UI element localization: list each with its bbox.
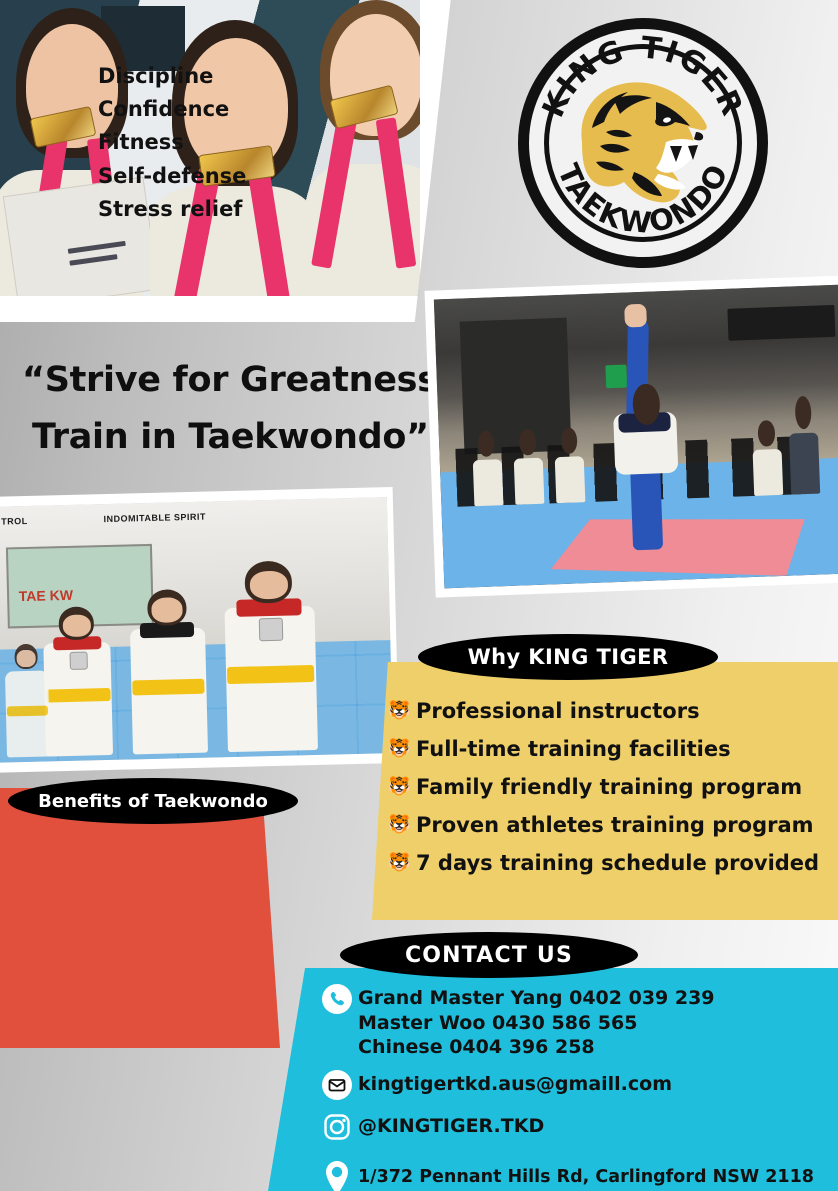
why-item-label: 7 days training schedule provided [416, 853, 819, 874]
benefits-heading-label: Benefits of Taekwondo [38, 791, 268, 812]
contact-address-row[interactable]: 1/372 Pennant Hills Rd, Carlingford NSW … [316, 1160, 836, 1191]
spectator [788, 395, 820, 494]
photo-high-kick-competition [425, 275, 838, 597]
contact-heading-pill: CONTACT US [340, 932, 638, 978]
photo-junior-class-training: TROL INDOMITABLE SPIRIT TAE KW [0, 487, 399, 773]
why-item-label: Proven athletes training program [416, 815, 814, 836]
spectator [513, 429, 545, 505]
tiger-face-icon: 🐯 [388, 702, 408, 720]
certificate-line [69, 254, 117, 266]
spectator [472, 430, 504, 506]
phone-icon [316, 984, 358, 1014]
certificate-line [68, 241, 126, 254]
spectator [752, 420, 784, 496]
wall-text-control: TROL [1, 516, 28, 527]
location-pin-icon [316, 1160, 358, 1191]
benefits-heading-pill: Benefits of Taekwondo [8, 778, 298, 824]
athlete-foot [624, 304, 646, 328]
instagram-icon [316, 1112, 358, 1142]
benefits-panel [0, 788, 280, 1048]
spectator [554, 427, 586, 503]
phone-numbers: Grand Master Yang 0402 039 239 Master Wo… [358, 984, 715, 1060]
instagram-handle: @KINGTIGER.TKD [358, 1112, 544, 1139]
tiger-face-icon: 🐯 [388, 740, 408, 758]
phone-line-1: Grand Master Yang 0402 039 239 [358, 986, 715, 1011]
student [129, 589, 208, 755]
envelope-icon [316, 1070, 358, 1100]
benefits-item: Fitness [98, 126, 246, 159]
tiger-head-icon [570, 76, 720, 208]
quote-line-1: “Strive for Greatness [22, 360, 438, 400]
phone-line-2: Master Woo 0430 586 565 [358, 1011, 715, 1036]
why-item: 🐯 7 days training schedule provided [388, 844, 819, 882]
photo-high-kick-image [434, 284, 838, 588]
poster-root: KING TIGER TAEKWONDO [0, 0, 838, 1191]
phone-line-3: Chinese 0404 396 258 [358, 1035, 715, 1060]
why-item: 🐯 Professional instructors [388, 692, 819, 730]
headline-quote: “Strive for Greatness Train in Taekwondo… [22, 352, 442, 465]
benefits-item: Stress relief [98, 193, 246, 226]
photo-junior-class-image: TROL INDOMITABLE SPIRIT TAE KW [0, 497, 393, 763]
benefits-list: Discipline Confidence Fitness Self-defen… [98, 60, 246, 226]
why-heading-label: Why KING TIGER [468, 645, 669, 669]
contact-instagram-row[interactable]: @KINGTIGER.TKD [316, 1112, 836, 1142]
benefits-item: Confidence [98, 93, 246, 126]
why-list: 🐯 Professional instructors 🐯 Full-time t… [388, 692, 819, 882]
why-heading-pill: Why KING TIGER [418, 634, 718, 680]
student [223, 560, 318, 752]
contact-heading-label: CONTACT US [405, 943, 573, 968]
student [43, 606, 114, 756]
contact-email-row[interactable]: kingtigertkd.aus@gmaill.com [316, 1070, 836, 1100]
why-item-label: Full-time training facilities [416, 739, 731, 760]
tiger-face-icon: 🐯 [388, 854, 408, 872]
benefits-item: Discipline [98, 60, 246, 93]
athlete-kicking [604, 316, 695, 556]
wall-text-tae-kwon: TAE KW [19, 587, 74, 604]
why-item-label: Family friendly training program [416, 777, 802, 798]
why-item: 🐯 Proven athletes training program [388, 806, 819, 844]
student [4, 644, 50, 758]
why-item: 🐯 Full-time training facilities [388, 730, 819, 768]
athlete-head [632, 384, 660, 425]
why-item: 🐯 Family friendly training program [388, 768, 819, 806]
street-address: 1/372 Pennant Hills Rd, Carlingford NSW … [358, 1160, 814, 1189]
why-item-label: Professional instructors [416, 701, 700, 722]
tiger-face-icon: 🐯 [388, 778, 408, 796]
king-tiger-logo: KING TIGER TAEKWONDO [518, 18, 768, 268]
quote-line-2: Train in Taekwondo” [22, 409, 442, 466]
email-address: kingtigertkd.aus@gmaill.com [358, 1070, 672, 1097]
contact-details: Grand Master Yang 0402 039 239 Master Wo… [316, 984, 836, 1191]
venue-signage [727, 305, 835, 341]
benefits-item: Self-defense [98, 160, 246, 193]
contact-phone-row[interactable]: Grand Master Yang 0402 039 239 Master Wo… [316, 984, 836, 1060]
tiger-face-icon: 🐯 [388, 816, 408, 834]
